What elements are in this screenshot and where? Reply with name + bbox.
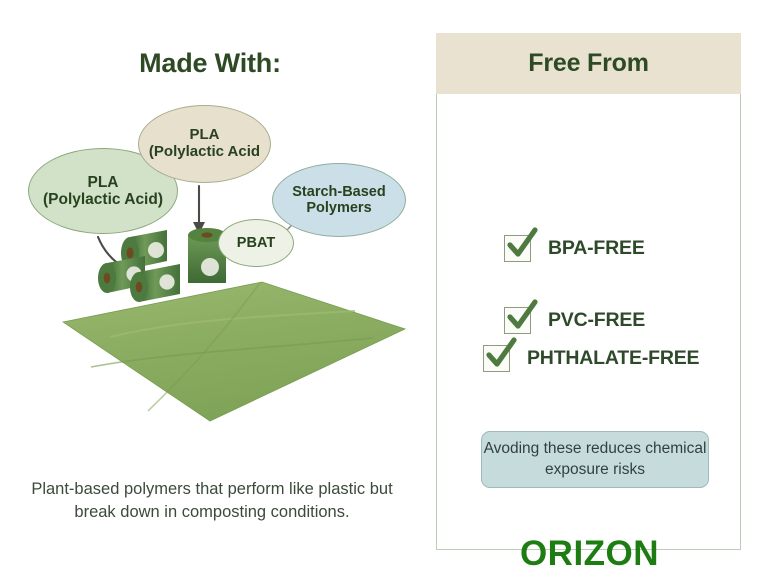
infographic-canvas: Made With:	[0, 0, 768, 576]
free-from-panel-body: BPA-FREE PVC-FREE PHTHALAT	[436, 94, 741, 550]
free-from-title: Free From	[528, 49, 648, 78]
ingredient-bubble-starch-based-polymers: Starch-Based Polymers	[272, 163, 406, 237]
checkbox-phthalate-free[interactable]	[483, 343, 513, 373]
page-title: Made With:	[0, 48, 420, 79]
checkmark-icon	[502, 296, 542, 336]
bubble-text: Starch-Based Polymers	[292, 184, 385, 216]
brand-logo: ORIZON	[437, 534, 742, 574]
claim-row-phthalate-free: PHTHALATE-FREE	[483, 343, 699, 373]
checkbox-bpa-free[interactable]	[504, 233, 534, 263]
free-from-header: Free From	[436, 33, 741, 94]
claim-label: PHTHALATE-FREE	[527, 347, 699, 370]
claim-label: BPA-FREE	[548, 237, 645, 260]
ingredient-bubble-pla-top: PLA (Polylactic Acid	[138, 105, 271, 183]
info-note-text: Avoding these reduces chemical exposure …	[482, 439, 708, 481]
claim-row-pvc-free: PVC-FREE	[504, 305, 645, 335]
bubble-text: PLA (Polylactic Acid)	[43, 174, 163, 209]
checkmark-icon	[502, 224, 542, 264]
bubble-text: PBAT	[237, 235, 275, 251]
bag-rolls	[98, 228, 226, 302]
claim-row-bpa-free: BPA-FREE	[504, 233, 645, 263]
bag-sheet	[63, 282, 405, 421]
bubble-text: PLA (Polylactic Acid	[149, 127, 260, 161]
ingredient-bubble-pbat: PBAT	[218, 219, 294, 267]
product-caption: Plant-based polymers that perform like p…	[28, 478, 396, 525]
info-note-box: Avoding these reduces chemical exposure …	[481, 431, 709, 488]
checkmark-icon	[481, 334, 521, 374]
checkbox-pvc-free[interactable]	[504, 305, 534, 335]
free-from-panel: Free From BPA-FREE PVC	[436, 33, 741, 551]
claim-label: PVC-FREE	[548, 309, 645, 332]
